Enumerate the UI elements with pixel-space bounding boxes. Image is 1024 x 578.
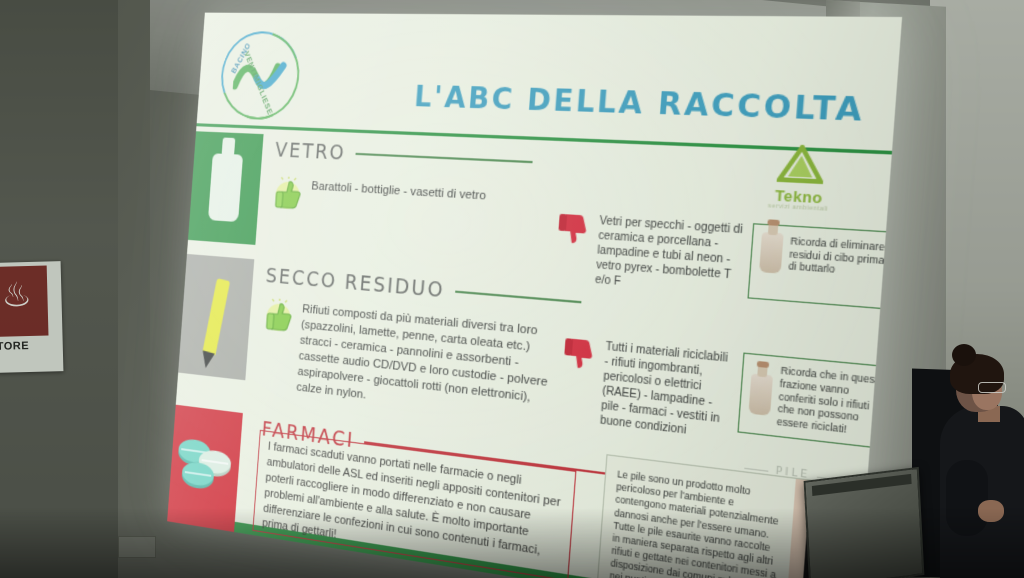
glasses-icon	[978, 382, 1006, 393]
pills-icon	[175, 436, 234, 501]
vetro-reminder: Ricorda di eliminare i residui di cibo p…	[750, 224, 902, 289]
secco-rejected-text: Tutti i materiali riciclabili - rifiuti …	[599, 340, 731, 443]
bacino-ventimigliese-logo: BACINO VENTIMIGLIESE	[218, 31, 302, 121]
projected-slide: BACINO VENTIMIGLIESE L'ABC DELLA RACCOLT…	[167, 13, 902, 578]
tekno-logo: Tekno servizi ambientali	[742, 143, 859, 217]
thumbs-down-icon	[560, 336, 595, 375]
page-title: L'ABC DELLA RACCOLTA	[413, 80, 866, 129]
recycle-triangle-icon	[777, 144, 826, 184]
vetro-reminder-box: Ricorda di eliminare i residui di cibo p…	[747, 223, 902, 310]
section-rule-secco-residuo	[455, 291, 581, 303]
secco-accepted-row: Rifiuti composti da più materiali divers…	[259, 298, 559, 426]
photo-scene: ♨ TORE BACINO VENTIMIGLIESE	[0, 0, 1024, 578]
section-rule-vetro	[355, 153, 532, 163]
thumbs-up-icon	[264, 298, 294, 334]
secco-reminder-text: Ricorda che in questa frazione vanno con…	[776, 364, 888, 440]
pile-rule-left	[744, 467, 768, 471]
tile-vetro	[188, 131, 264, 245]
bottle-reminder-icon	[748, 374, 773, 416]
vetro-rejected-text: Vetri per specchi - oggetti di ceramica …	[595, 214, 744, 299]
vetro-rejected-row: Vetri per specchi - oggetti di ceramica …	[551, 211, 743, 299]
presenter-hair-bun	[952, 344, 976, 366]
pencil-icon	[202, 278, 230, 355]
secco-accepted-text: Rifiuti composti da più materiali divers…	[296, 301, 559, 425]
thumbs-down-icon	[554, 211, 589, 249]
section-title-secco-residuo: SECCO RESIDUO	[265, 264, 446, 302]
secco-reminder-box: Ricorda che in questa frazione vanno con…	[737, 353, 899, 451]
secco-reminder: Ricorda che in questa frazione vanno con…	[739, 354, 898, 449]
flipchart-top-bar	[812, 474, 912, 496]
floor-shadow	[0, 508, 1024, 578]
section-title-vetro: VETRO	[274, 139, 346, 165]
tile-secco-residuo	[178, 254, 254, 380]
glass-bottle-icon	[208, 153, 243, 222]
vetro-reminder-text: Ricorda di eliminare i residui di cibo p…	[788, 235, 893, 281]
vetro-accepted-text: Barattoli - bottiglie - vasetti di vetro	[311, 178, 487, 204]
section-header-vetro: VETRO	[274, 139, 533, 175]
vetro-accepted-row: Barattoli - bottiglie - vasetti di vetro	[273, 176, 552, 227]
bottle-reminder-icon	[759, 232, 784, 274]
thumbs-up-icon	[273, 176, 303, 211]
secco-rejected-row: Tutti i materiali riciclabili - rifiuti …	[556, 336, 732, 444]
